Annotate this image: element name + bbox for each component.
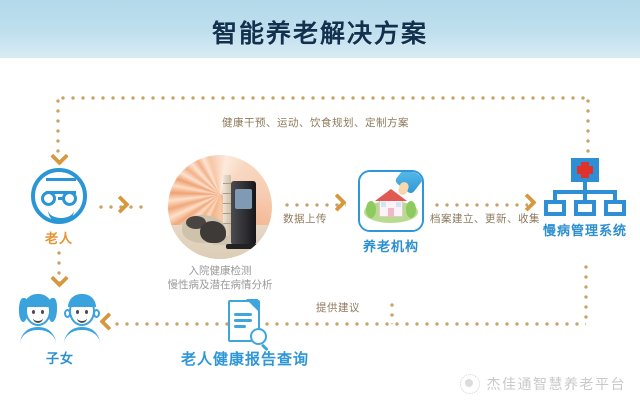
node-health-report-label: 老人健康报告查询: [170, 348, 320, 369]
child-face-left: [18, 292, 58, 344]
checkup-caption-line1: 入院健康检测: [166, 264, 274, 278]
connector-top-horizontal: [58, 96, 588, 100]
nursing-home-icon: [358, 170, 424, 232]
health-kiosk-photo: [168, 155, 272, 259]
node-children[interactable]: 子女: [14, 292, 106, 367]
connector-label-archive: 档案建立、更新、收集: [430, 211, 540, 226]
checkup-caption: 入院健康检测 慢性病及潜在病情分析: [166, 264, 274, 292]
node-children-label: 子女: [14, 348, 106, 367]
connector-institution-down: [390, 300, 394, 324]
checkup-caption-line2: 慢性病及潜在病情分析: [166, 278, 274, 292]
child-face-right: [62, 292, 102, 344]
node-chronic-system-label: 慢病管理系统: [542, 220, 628, 239]
node-health-report[interactable]: 老人健康报告查询: [170, 300, 320, 369]
children-faces-icon: [14, 292, 106, 344]
watermark: 杰佳通智慧养老平台: [460, 374, 627, 394]
arrow-elderly-to-checkup: [113, 197, 127, 215]
arrow-down-to-children: [51, 272, 65, 290]
node-institution-label: 养老机构: [358, 236, 424, 255]
brand-logo-icon: [460, 374, 480, 394]
arrow-left-to-children: [100, 314, 114, 332]
infographic-canvas: 智能养老解决方案 健康干预、运动、饮食规划、定制方案 老人: [0, 0, 640, 404]
connector-label-upload: 数据上传: [283, 211, 327, 226]
arrow-down-to-elderly: [51, 150, 65, 168]
node-elderly[interactable]: 老人: [30, 168, 88, 247]
connector-institution-to-system: [432, 203, 528, 207]
node-chronic-system[interactable]: 慢病管理系统: [542, 158, 628, 239]
header-banner: 智能养老解决方案: [0, 0, 640, 58]
elderly-face-icon: [31, 168, 87, 224]
connector-label-advice: 提供建议: [316, 300, 360, 315]
connector-system-down: [584, 262, 588, 324]
node-institution[interactable]: 养老机构: [358, 170, 424, 255]
node-health-checkup[interactable]: 入院健康检测 慢性病及潜在病情分析: [166, 155, 274, 292]
watermark-text: 杰佳通智慧养老平台: [487, 374, 627, 394]
page-title: 智能养老解决方案: [0, 14, 640, 50]
connector-top-right-down: [586, 96, 590, 158]
document-search-icon: [224, 300, 266, 346]
node-elderly-label: 老人: [30, 228, 88, 247]
connector-top-left-down: [56, 96, 60, 154]
connector-label-top: 健康干预、运动、饮食规划、定制方案: [222, 115, 409, 130]
chronic-disease-system-icon: [542, 158, 628, 216]
arrow-checkup-to-institution: [330, 195, 344, 213]
